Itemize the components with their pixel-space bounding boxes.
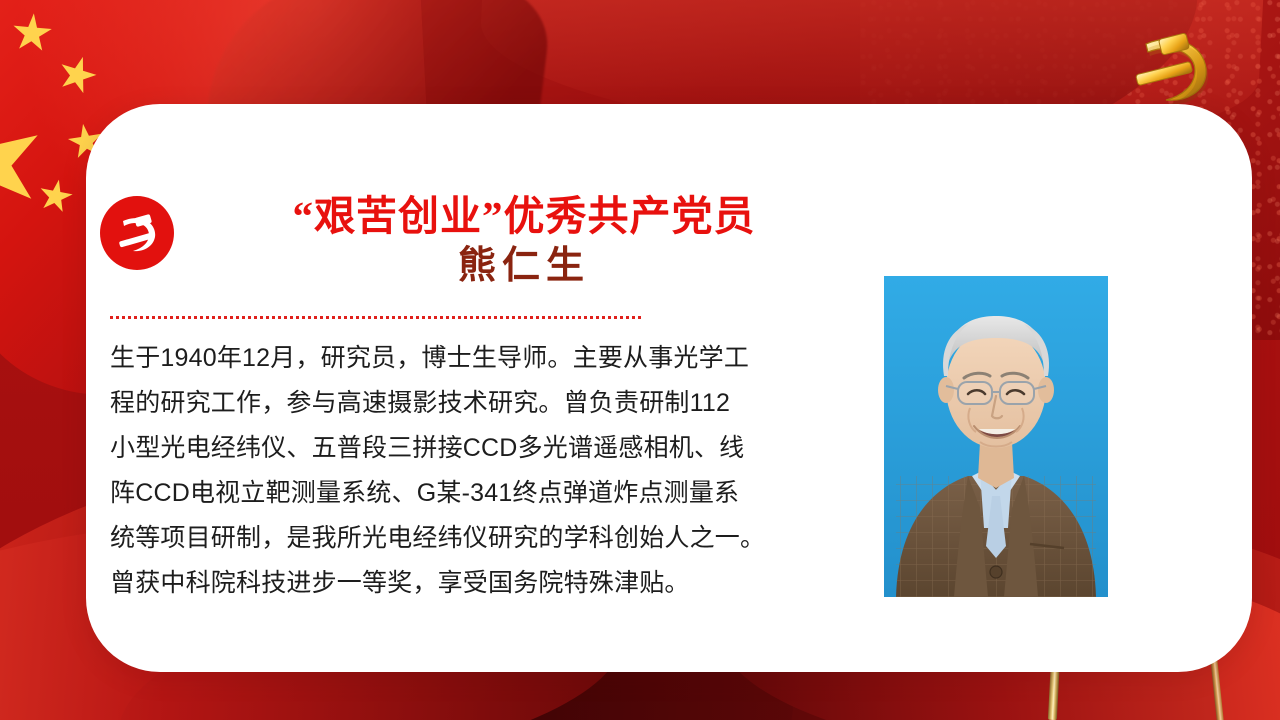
divider — [110, 316, 642, 319]
biography-line: 生于1940年12月，研究员，博士生导师。主要从事光学工 — [110, 336, 822, 381]
flag-star-small-2 — [54, 51, 101, 98]
biography-line: 程的研究工作，参与高速摄影技术研究。曾负责研制112 — [110, 381, 822, 426]
hammer-sickle-icon — [1116, 26, 1228, 112]
flag-star-small-1 — [10, 12, 53, 55]
flag-star-small-4 — [36, 176, 76, 216]
page-title: “艰苦创业”优秀共产党员 — [194, 192, 854, 240]
biography-line: 阵CCD电视立靶测量系统、G某-341终点弹道炸点测量系 — [110, 471, 822, 516]
flag-star-large — [0, 98, 56, 228]
title-block: “艰苦创业”优秀共产党员 熊仁生 — [194, 192, 854, 292]
biography-line: 小型光电经纬仪、五普段三拼接CCD多光谱遥感相机、线 — [110, 426, 822, 471]
biography-line: 统等项目研制，是我所光电经纬仪研究的学科创始人之一。 — [110, 516, 822, 561]
biography-line: 曾获中科院科技进步一等奖，享受国务院特殊津贴。 — [110, 561, 822, 606]
content-card: “艰苦创业”优秀共产党员 熊仁生 生于1940年12月，研究员，博士生导师。主要… — [86, 104, 1252, 672]
person-name: 熊仁生 — [194, 242, 854, 291]
slide-root: “艰苦创业”优秀共产党员 熊仁生 生于1940年12月，研究员，博士生导师。主要… — [0, 0, 1280, 720]
party-emblem-icon — [100, 196, 174, 270]
portrait-photo — [884, 276, 1108, 597]
biography-text: 生于1940年12月，研究员，博士生导师。主要从事光学工 程的研究工作，参与高速… — [110, 336, 822, 606]
